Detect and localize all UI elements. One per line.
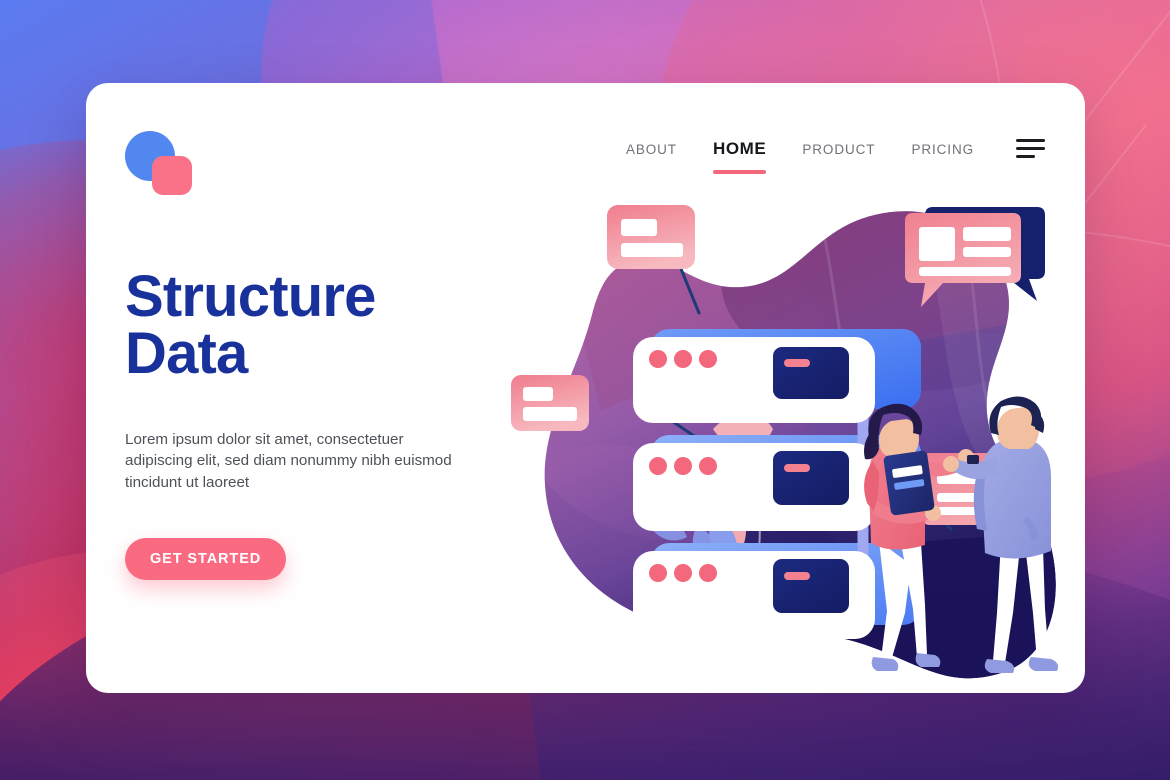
hero-subtitle: Lorem ipsum dolor sit amet, consectetuer… bbox=[125, 429, 465, 494]
hero-section: Structure Data Lorem ipsum dolor sit ame… bbox=[125, 269, 505, 580]
logo[interactable] bbox=[125, 131, 193, 193]
server-status-dot bbox=[674, 457, 692, 475]
page-title-line-1: Structure bbox=[125, 264, 376, 329]
nav-label-product: PRODUCT bbox=[802, 142, 875, 157]
server-status-dot bbox=[674, 564, 692, 582]
man-watch bbox=[967, 455, 979, 464]
nav-item-product[interactable]: PRODUCT bbox=[802, 138, 875, 161]
server-chip-led bbox=[784, 359, 810, 367]
man-shoe bbox=[1029, 657, 1058, 671]
tablet-device bbox=[883, 450, 935, 516]
nav-item-home[interactable]: HOME bbox=[713, 135, 766, 163]
page-root: ABOUT HOME PRODUCT PRICING bbox=[0, 0, 1170, 780]
nav-label-about: ABOUT bbox=[626, 142, 677, 157]
nav-label-home: HOME bbox=[713, 139, 766, 158]
server-row bbox=[633, 551, 875, 639]
nav-label-pricing: PRICING bbox=[911, 142, 974, 157]
page-title-line-2: Data bbox=[125, 326, 505, 383]
rounded-square-icon bbox=[152, 156, 192, 195]
server-chip-led bbox=[784, 464, 810, 472]
server-row bbox=[633, 337, 875, 423]
data-server-structure-illustration bbox=[481, 161, 1081, 693]
man-hand bbox=[943, 456, 959, 472]
server-status-dot bbox=[649, 457, 667, 475]
server-chip-led bbox=[784, 572, 810, 580]
floating-card-left bbox=[511, 375, 589, 431]
nav-item-pricing[interactable]: PRICING bbox=[911, 138, 974, 161]
server-status-dot bbox=[699, 457, 717, 475]
hamburger-line-1 bbox=[1016, 139, 1045, 142]
get-started-button[interactable]: GET STARTED bbox=[125, 538, 286, 580]
server-status-dot bbox=[649, 564, 667, 582]
server-chip bbox=[773, 451, 849, 505]
server-chip bbox=[773, 559, 849, 613]
main-navigation: ABOUT HOME PRODUCT PRICING bbox=[590, 135, 1045, 163]
server-status-dot bbox=[674, 350, 692, 368]
floating-card-top bbox=[607, 205, 695, 269]
man-top bbox=[981, 438, 1051, 558]
server-row bbox=[633, 443, 875, 531]
server-chip bbox=[773, 347, 849, 399]
server-status-dot bbox=[699, 350, 717, 368]
nav-item-about[interactable]: ABOUT bbox=[626, 138, 677, 161]
hamburger-line-2 bbox=[1016, 147, 1045, 150]
server-status-dot bbox=[649, 350, 667, 368]
server-status-dot bbox=[699, 564, 717, 582]
page-title: Structure Data bbox=[125, 269, 505, 383]
woman-shoe bbox=[872, 657, 899, 671]
landing-card: ABOUT HOME PRODUCT PRICING bbox=[86, 83, 1085, 693]
hamburger-line-3 bbox=[1016, 155, 1035, 158]
hamburger-menu-icon[interactable] bbox=[1016, 139, 1045, 159]
